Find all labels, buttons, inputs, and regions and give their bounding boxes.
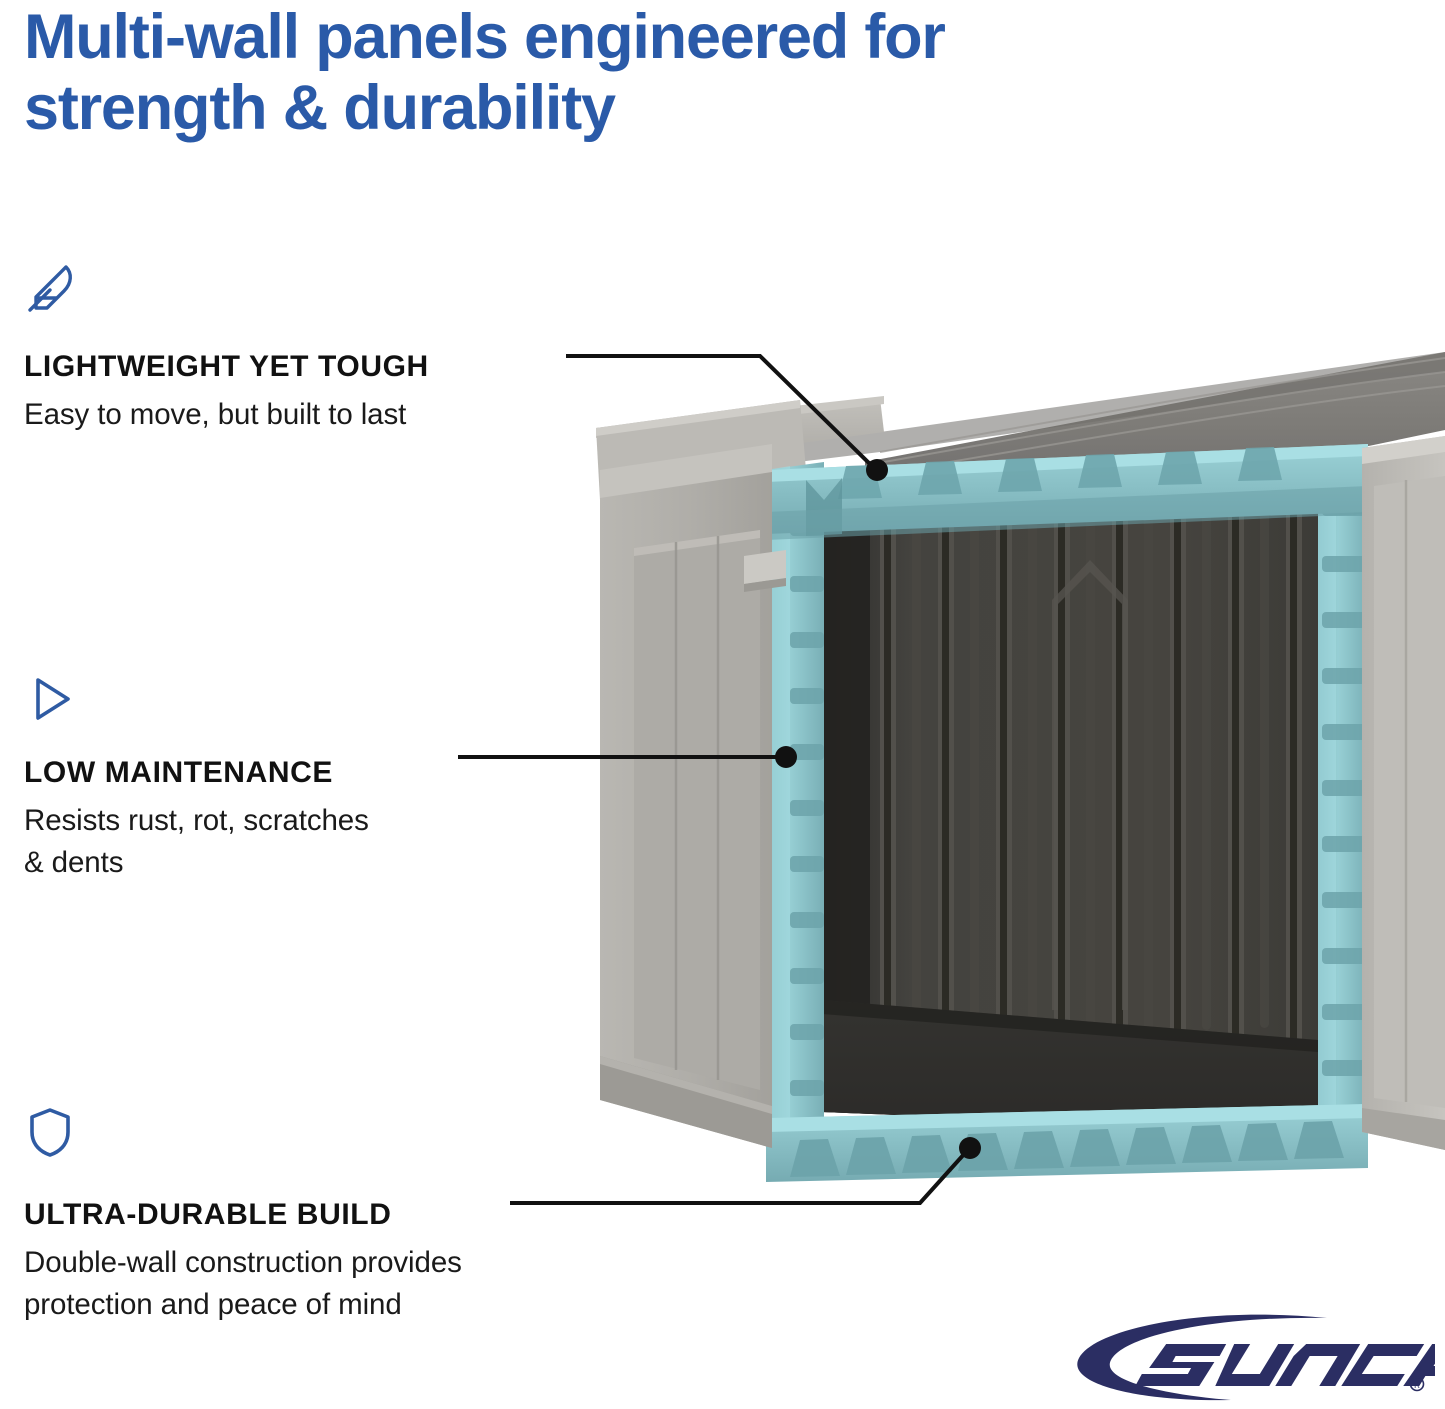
feature-desc-line-2: protection and peace of mind bbox=[24, 1284, 462, 1326]
leader-dot-low-maintenance bbox=[775, 746, 797, 768]
infographic-root: Multi-wall panels engineered for strengt… bbox=[0, 0, 1445, 1406]
leader-dot-lightweight bbox=[866, 459, 888, 481]
leader-line-lightweight bbox=[568, 356, 872, 466]
suncast-logo: R bbox=[1055, 1312, 1435, 1404]
feature-description: Easy to move, but built to last bbox=[24, 394, 406, 436]
leader-line-ultra-durable bbox=[512, 1152, 966, 1203]
play-triangle-icon bbox=[22, 672, 78, 728]
shield-icon bbox=[22, 1104, 78, 1160]
feature-desc-line-1: Double-wall construction provides bbox=[24, 1242, 462, 1284]
feature-title: LOW MAINTENANCE bbox=[24, 756, 333, 790]
feature-description: Resists rust, rot, scratches & dents bbox=[24, 800, 369, 884]
leader-lines bbox=[0, 0, 1445, 1406]
feature-title: ULTRA-DURABLE BUILD bbox=[24, 1198, 391, 1232]
logo-swoosh bbox=[1077, 1315, 1327, 1400]
feature-description: Double-wall construction provides protec… bbox=[24, 1242, 462, 1326]
logo-wordmark bbox=[1135, 1330, 1435, 1386]
leader-dot-ultra-durable bbox=[959, 1137, 981, 1159]
svg-text:R: R bbox=[1414, 1381, 1420, 1390]
feather-icon bbox=[22, 258, 78, 314]
feature-desc-line-1: Resists rust, rot, scratches bbox=[24, 800, 369, 842]
feature-title: LIGHTWEIGHT YET TOUGH bbox=[24, 350, 429, 384]
feature-desc-line-1: Easy to move, but built to last bbox=[24, 394, 406, 436]
feature-desc-line-2: & dents bbox=[24, 842, 369, 884]
